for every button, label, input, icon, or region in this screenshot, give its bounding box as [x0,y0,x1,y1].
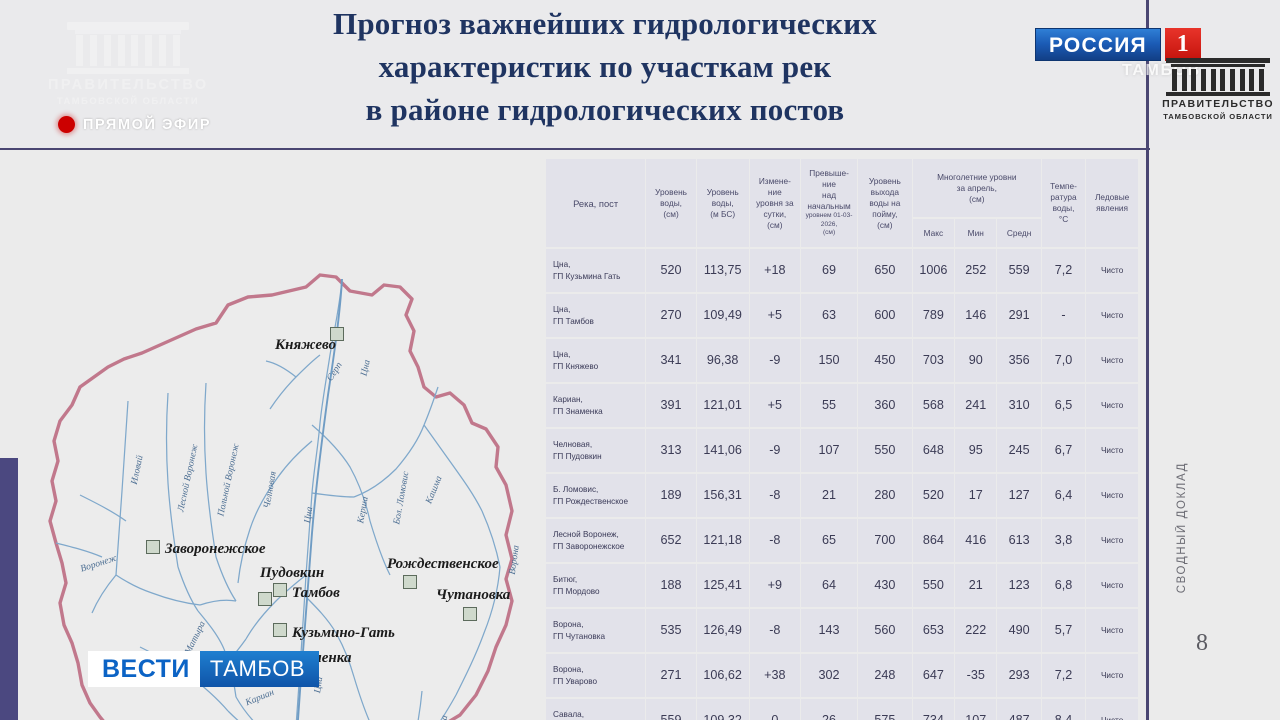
cell-river: Челновая, [553,440,592,449]
cell-river-post: Б. Ломовис,ГП Рождественское [546,474,645,517]
cell-level-mbs: 121,01 [697,384,749,427]
cell-daily-change: +5 [750,384,801,427]
cell-temperature: 3,8 [1042,519,1085,562]
cell-level-cm: 313 [646,429,696,472]
th-excess-over-initial: Превыше-ниенадначальнымуровнем 01-03-202… [801,159,857,247]
cell-river: Лесной Воронеж, [553,530,619,539]
cell-multiyear-avg: 127 [997,474,1040,517]
cell-multiyear-min: 17 [955,474,996,517]
hydrology-table: Река, пост Уровеньводы,(см) Уровеньводы,… [545,157,1139,720]
table-row: Цна,ГП Тамбов270109,49+563600789146291-Ч… [546,294,1138,337]
cell-level-cm: 271 [646,654,696,697]
cell-multiyear-max: 1006 [913,249,954,292]
th-multiyear-group: Многолетние уровниза апрель,(см) [913,159,1041,217]
table-row: Цна,ГП Кузьмина Гать520113,75+1869650100… [546,249,1138,292]
cell-daily-change: +9 [750,564,801,607]
cell-level-cm: 391 [646,384,696,427]
cell-level-mbs: 106,62 [697,654,749,697]
slide-canvas: Прогноз важнейших гидрологических характ… [0,0,1280,720]
cell-level-cm: 189 [646,474,696,517]
cell-river: Кариан, [553,395,583,404]
cell-excess: 302 [801,654,857,697]
cell-river-post: Челновая,ГП Пудовкин [546,429,645,472]
cell-level-mbs: 113,75 [697,249,749,292]
cell-post: ГП Княжево [553,362,598,371]
cell-river: Битюг, [553,575,577,584]
cell-post: ГП Рождественское [553,497,628,506]
title-line-1: Прогноз важнейших гидрологических [200,2,1010,45]
th-level-cm: Уровеньводы,(см) [646,159,696,247]
cell-level-cm: 188 [646,564,696,607]
table-row: Ворона,ГП Чутановка535126,49-81435606532… [546,609,1138,652]
cell-multiyear-avg: 293 [997,654,1040,697]
cell-multiyear-avg: 310 [997,384,1040,427]
cell-excess: 21 [801,474,857,517]
cell-daily-change: +38 [750,654,801,697]
cell-post: ГП Уварово [553,677,597,686]
cell-river-post: Савала,ГП Жердевка [546,699,645,720]
cell-ice-phenomena: Чисто [1086,699,1138,720]
cell-multiyear-min: 95 [955,429,996,472]
cell-river-post: Лесной Воронеж,ГП Заворонежское [546,519,645,562]
cell-river: Б. Ломовис, [553,485,598,494]
cell-floodplain: 430 [858,564,912,607]
cell-floodplain: 450 [858,339,912,382]
table-row: Цна,ГП Княжево34196,38-9150450703903567,… [546,339,1138,382]
cell-multiyear-min: 90 [955,339,996,382]
cell-river-post: Цна,ГП Княжево [546,339,645,382]
city-marker [146,540,160,554]
cell-excess: 107 [801,429,857,472]
th-multiyear-avg: Средн [997,219,1040,247]
cell-temperature: 6,8 [1042,564,1085,607]
live-dot-icon [58,116,75,133]
cell-ice-phenomena: Чисто [1086,654,1138,697]
government-building-icon [67,22,189,74]
city-label-tambov: Тамбов [292,585,340,602]
cell-multiyear-avg: 123 [997,564,1040,607]
cell-excess: 63 [801,294,857,337]
page-title: Прогноз важнейших гидрологических характ… [200,2,1010,131]
city-marker [463,607,477,621]
cell-temperature: 8,4 [1042,699,1085,720]
th-floodplain-level: Уровеньвыходаводы напойму,(см) [858,159,912,247]
cell-river: Ворона, [553,620,583,629]
table-row: Битюг,ГП Мордово188125,41+96443055021123… [546,564,1138,607]
city-label-knyazhevo: Княжево [275,337,336,354]
cell-post: ГП Кузьмина Гать [553,272,620,281]
cell-multiyear-max: 647 [913,654,954,697]
cell-post: ГП Мордово [553,587,600,596]
cell-level-mbs: 96,38 [697,339,749,382]
cell-ice-phenomena: Чисто [1086,519,1138,562]
cell-daily-change: -8 [750,519,801,562]
table-row: Кариан,ГП Знаменка391121,01+555360568241… [546,384,1138,427]
cell-multiyear-min: 107 [955,699,996,720]
cell-river: Цна, [553,350,570,359]
cell-post: ГП Заворонежское [553,542,624,551]
cell-multiyear-avg: 487 [997,699,1040,720]
cell-post: ГП Пудовкин [553,452,602,461]
city-label-chutanovka: Чутановка [436,587,510,604]
cell-level-cm: 559 [646,699,696,720]
cell-river-post: Ворона,ГП Уварово [546,654,645,697]
cell-multiyear-min: 416 [955,519,996,562]
cell-multiyear-min: 146 [955,294,996,337]
city-label-rozhdestvenskoe: Рождественское [387,556,499,573]
live-broadcast-badge: ПРЯМОЙ ЭФИР [58,116,211,133]
cell-multiyear-min: 252 [955,249,996,292]
cell-excess: 69 [801,249,857,292]
th-ice-phenomena: Ледовыеявления [1086,159,1138,247]
vesti-primary-label: ВЕСТИ [102,655,190,684]
live-label: ПРЯМОЙ ЭФИР [83,117,211,133]
cell-level-cm: 520 [646,249,696,292]
cell-temperature: 5,7 [1042,609,1085,652]
cell-daily-change: +18 [750,249,801,292]
cell-multiyear-min: 21 [955,564,996,607]
channel-number: 1 [1165,28,1201,61]
cell-multiyear-min: 222 [955,609,996,652]
cell-excess: 55 [801,384,857,427]
cell-floodplain: 248 [858,654,912,697]
cell-temperature: 7,0 [1042,339,1085,382]
cell-multiyear-max: 568 [913,384,954,427]
cell-river-post: Ворона,ГП Чутановка [546,609,645,652]
th-multiyear-min: Мин [955,219,996,247]
cell-level-cm: 535 [646,609,696,652]
cell-multiyear-avg: 356 [997,339,1040,382]
cell-multiyear-avg: 245 [997,429,1040,472]
cell-multiyear-max: 789 [913,294,954,337]
cell-ice-phenomena: Чисто [1086,564,1138,607]
cell-level-mbs: 156,31 [697,474,749,517]
th-daily-change: Измене-ниеуровня засутки,(см) [750,159,801,247]
gov-watermark-line-2: ТАМБОВСКОЙ ОБЛАСТИ [48,94,208,107]
section-side-label: Сводный доклад [1176,462,1196,593]
cell-floodplain: 280 [858,474,912,517]
cell-daily-change: -9 [750,429,801,472]
city-marker [273,623,287,637]
cell-post: ГП Чутановка [553,632,605,641]
city-marker [403,575,417,589]
cell-multiyear-max: 703 [913,339,954,382]
table-row: Челновая,ГП Пудовкин313141,06-9107550648… [546,429,1138,472]
cell-multiyear-avg: 613 [997,519,1040,562]
cell-floodplain: 575 [858,699,912,720]
cell-excess: 143 [801,609,857,652]
cell-river: Цна, [553,260,570,269]
cell-level-mbs: 121,18 [697,519,749,562]
cell-level-mbs: 141,06 [697,429,749,472]
gov-logo-line-2: ТАМБОВСКОЙ ОБЛАСТИ [1162,111,1274,122]
government-watermark: ПРАВИТЕЛЬСТВО ТАМБОВСКОЙ ОБЛАСТИ [48,22,208,107]
cell-ice-phenomena: Чисто [1086,384,1138,427]
channel-logo: РОССИЯ 1 [1035,28,1201,61]
header-divider-line [0,148,1150,150]
city-label-pudovkin: Пудовкин [260,565,324,582]
cell-temperature: 7,2 [1042,249,1085,292]
gov-watermark-line-1: ПРАВИТЕЛЬСТВО [48,77,208,94]
cell-level-mbs: 109,49 [697,294,749,337]
table-body: Цна,ГП Кузьмина Гать520113,75+1869650100… [546,249,1138,720]
vesti-secondary: ТАМБОВ [200,651,319,687]
cell-daily-change: +5 [750,294,801,337]
vesti-primary: ВЕСТИ [88,651,200,687]
cell-river-post: Цна,ГП Тамбов [546,294,645,337]
cell-excess: 64 [801,564,857,607]
cell-ice-phenomena: Чисто [1086,609,1138,652]
cell-temperature: - [1042,294,1085,337]
cell-river: Цна, [553,305,570,314]
cell-floodplain: 700 [858,519,912,562]
cell-river: Ворона, [553,665,583,674]
cell-excess: 26 [801,699,857,720]
cell-ice-phenomena: Чисто [1086,429,1138,472]
channel-name: РОССИЯ [1035,28,1161,61]
government-logo: ПРАВИТЕЛЬСТВО ТАМБОВСКОЙ ОБЛАСТИ [1162,58,1274,122]
table-row: Б. Ломовис,ГП Рождественское189156,31-82… [546,474,1138,517]
city-label-kuzmino-gat: Кузьмино-Гать [292,625,395,642]
vesti-broadcast-bug: ВЕСТИ ТАМБОВ [88,651,319,687]
table-row: Ворона,ГП Уварово271106,62+38302248647-3… [546,654,1138,697]
left-edge-accent-bar [0,458,18,720]
cell-floodplain: 560 [858,609,912,652]
cell-daily-change: -8 [750,474,801,517]
cell-post: ГП Тамбов [553,317,594,326]
table-header-row-1: Река, пост Уровеньводы,(см) Уровеньводы,… [546,159,1138,217]
hydrology-table-container: Река, пост Уровеньводы,(см) Уровеньводы,… [545,157,1139,720]
cell-multiyear-max: 653 [913,609,954,652]
th-water-temperature: Темпе-ратураводы,°C [1042,159,1085,247]
cell-floodplain: 360 [858,384,912,427]
cell-multiyear-max: 648 [913,429,954,472]
cell-level-mbs: 126,49 [697,609,749,652]
cell-level-mbs: 109,32 [697,699,749,720]
cell-ice-phenomena: Чисто [1086,474,1138,517]
cell-level-cm: 652 [646,519,696,562]
cell-ice-phenomena: Чисто [1086,339,1138,382]
title-line-3: в районе гидрологических постов [200,88,1010,131]
cell-post: ГП Знаменка [553,407,603,416]
cell-river-post: Кариан,ГП Знаменка [546,384,645,427]
table-row: Савала,ГП Жердевка559109,320265757341074… [546,699,1138,720]
cell-temperature: 7,2 [1042,654,1085,697]
cell-daily-change: 0 [750,699,801,720]
th-level-mbs: Уровеньводы,(м БС) [697,159,749,247]
vesti-secondary-label: ТАМБОВ [210,656,305,682]
right-edge-accent-line [1146,0,1149,720]
cell-level-mbs: 125,41 [697,564,749,607]
table-header: Река, пост Уровеньводы,(см) Уровеньводы,… [546,159,1138,247]
city-marker [273,583,287,597]
table-row: Лесной Воронеж,ГП Заворонежское652121,18… [546,519,1138,562]
cell-multiyear-max: 864 [913,519,954,562]
cell-floodplain: 550 [858,429,912,472]
cell-floodplain: 650 [858,249,912,292]
cell-multiyear-max: 520 [913,474,954,517]
cell-river-post: Цна,ГП Кузьмина Гать [546,249,645,292]
cell-multiyear-avg: 490 [997,609,1040,652]
cell-daily-change: -8 [750,609,801,652]
title-line-2: характеристик по участкам рек [200,45,1010,88]
cell-ice-phenomena: Чисто [1086,249,1138,292]
city-marker [258,592,272,606]
th-multiyear-max: Макс [913,219,954,247]
tambov-region-map: Княжево Заворонежское Пудовкин Рождестве… [20,155,530,720]
cell-multiyear-max: 734 [913,699,954,720]
cell-daily-change: -9 [750,339,801,382]
cell-level-cm: 341 [646,339,696,382]
page-number: 8 [1196,630,1208,657]
government-building-icon-small [1166,58,1270,96]
gov-logo-line-1: ПРАВИТЕЛЬСТВО [1162,98,1274,111]
cell-multiyear-avg: 291 [997,294,1040,337]
cell-excess: 150 [801,339,857,382]
th-river-post: Река, пост [546,159,645,247]
city-label-zavoronezhskoe: Заворонежское [165,541,266,558]
cell-multiyear-min: -35 [955,654,996,697]
cell-level-cm: 270 [646,294,696,337]
cell-multiyear-max: 550 [913,564,954,607]
cell-ice-phenomena: Чисто [1086,294,1138,337]
cell-floodplain: 600 [858,294,912,337]
cell-temperature: 6,4 [1042,474,1085,517]
cell-river-post: Битюг,ГП Мордово [546,564,645,607]
cell-multiyear-avg: 559 [997,249,1040,292]
cell-temperature: 6,7 [1042,429,1085,472]
cell-temperature: 6,5 [1042,384,1085,427]
cell-excess: 65 [801,519,857,562]
cell-river: Савала, [553,710,584,719]
cell-multiyear-min: 241 [955,384,996,427]
